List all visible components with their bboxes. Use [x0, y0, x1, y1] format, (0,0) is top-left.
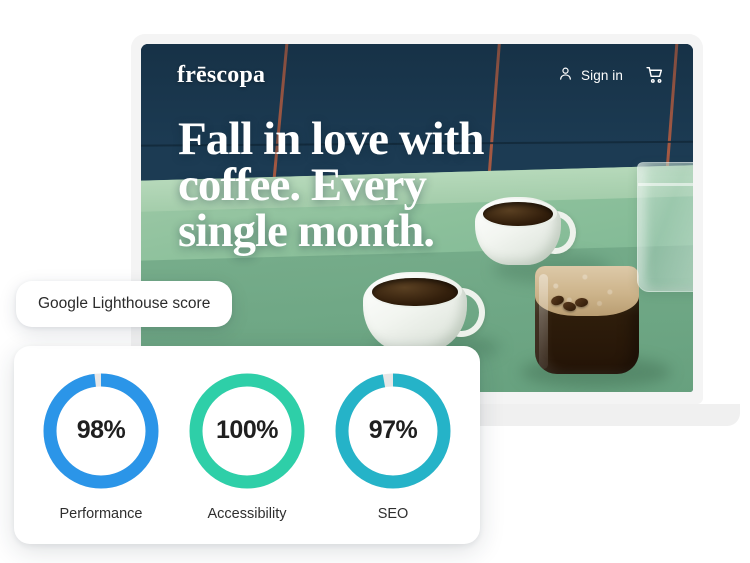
score-value-performance: 98%: [39, 369, 163, 493]
lighthouse-score-label: Google Lighthouse score: [16, 281, 232, 327]
score-label-accessibility: Accessibility: [208, 506, 287, 522]
score-ring-seo: 97%: [331, 369, 455, 493]
iced-coffee-glass: [535, 266, 639, 374]
user-icon: [557, 65, 574, 85]
score-ring-performance: 98%: [39, 369, 163, 493]
glass-vessel: [535, 266, 639, 374]
coffee-foam: [535, 266, 639, 316]
sign-in-link[interactable]: Sign in: [557, 65, 623, 85]
score-value-seo: 97%: [331, 369, 455, 493]
score-label-performance: Performance: [59, 506, 142, 522]
water-glass: [637, 162, 693, 292]
water-line: [638, 183, 693, 186]
nav-right-group: Sign in: [557, 65, 665, 85]
glass-highlight: [539, 274, 548, 369]
score-value-accessibility: 100%: [185, 369, 309, 493]
site-navigation-bar: frēscopa Sign in: [141, 44, 693, 106]
site-logo[interactable]: frēscopa: [177, 62, 265, 89]
score-ring-accessibility: 100%: [185, 369, 309, 493]
score-item-seo: 97% SEO: [331, 369, 455, 522]
score-label-seo: SEO: [378, 506, 409, 522]
lighthouse-score-card: 98% Performance 100% Accessibility 97% S…: [14, 346, 480, 544]
sign-in-label: Sign in: [581, 68, 623, 83]
score-item-accessibility: 100% Accessibility: [185, 369, 309, 522]
coffee-cup: [363, 272, 467, 352]
hero-headline: Fall in love with coffee. Every single m…: [178, 116, 538, 254]
score-item-performance: 98% Performance: [39, 369, 163, 522]
laptop-screen: frēscopa Sign in: [141, 44, 693, 392]
shopping-cart-icon[interactable]: [645, 65, 665, 85]
coffee-liquid: [372, 278, 457, 307]
